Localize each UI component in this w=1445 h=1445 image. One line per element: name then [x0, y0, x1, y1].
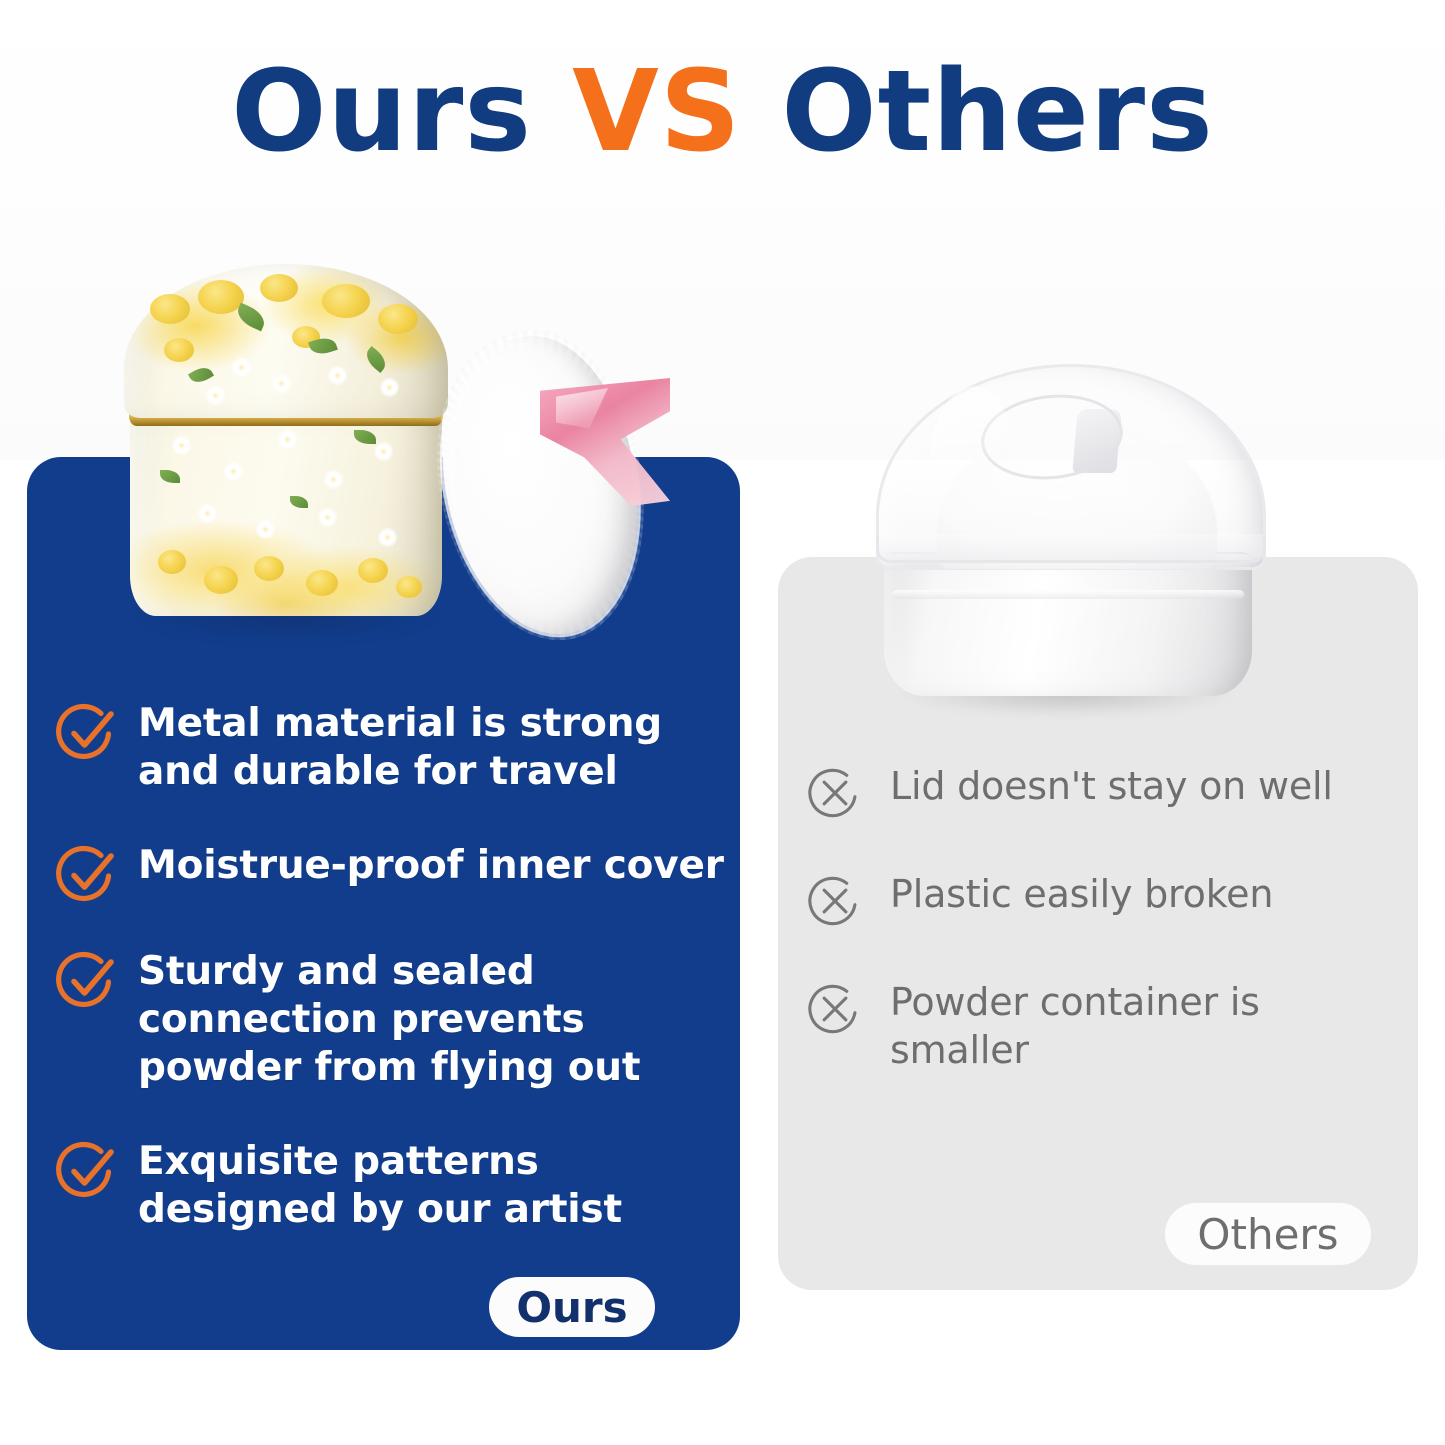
jar-dome-lip — [876, 534, 1266, 563]
title-word-ours: Ours — [231, 52, 532, 172]
list-item: Lid doesn't stay on well — [778, 762, 1418, 820]
tin-lid — [124, 264, 448, 418]
jar-base — [884, 552, 1252, 696]
tin-base — [130, 410, 442, 616]
list-item: Moistrue-proof inner cover — [27, 842, 740, 902]
list-item: Metal material is strong and durable for… — [27, 700, 740, 796]
feature-text: Exquisite patterns designed by our artis… — [138, 1138, 726, 1234]
check-circle-icon — [55, 948, 119, 1012]
feature-text: Sturdy and sealed connection prevents po… — [138, 948, 726, 1092]
list-item: Exquisite patterns designed by our artis… — [27, 1138, 740, 1234]
powder-puff — [436, 322, 676, 658]
ours-feature-list: Metal material is strong and durable for… — [27, 700, 740, 1234]
others-badge: Others — [1165, 1203, 1371, 1265]
others-drawback-list: Lid doesn't stay on well Plastic easily … — [778, 762, 1418, 1074]
title-word-others: Others — [781, 52, 1213, 172]
ours-product-image — [118, 258, 458, 658]
drawback-text: Powder container is smaller — [890, 978, 1408, 1074]
title-word-vs: VS — [572, 52, 741, 172]
check-circle-icon — [55, 700, 119, 764]
list-item: Plastic easily broken — [778, 870, 1418, 928]
x-circle-icon — [806, 980, 864, 1038]
check-circle-icon — [55, 1138, 119, 1202]
others-product-image — [862, 358, 1274, 714]
x-circle-icon — [806, 872, 864, 930]
check-circle-icon — [55, 842, 119, 906]
feature-text: Moistrue-proof inner cover — [138, 842, 726, 890]
ours-badge: Ours — [489, 1277, 655, 1337]
comparison-infographic: Ours VS Others — [0, 0, 1445, 1445]
list-item: Sturdy and sealed connection prevents po… — [27, 948, 740, 1092]
jar-seam — [892, 590, 1244, 599]
feature-text: Metal material is strong and durable for… — [138, 700, 726, 796]
x-circle-icon — [806, 764, 864, 822]
page-title: Ours VS Others — [0, 52, 1445, 172]
list-item: Powder container is smaller — [778, 978, 1418, 1074]
drawback-text: Plastic easily broken — [890, 870, 1408, 918]
drawback-text: Lid doesn't stay on well — [890, 762, 1408, 810]
